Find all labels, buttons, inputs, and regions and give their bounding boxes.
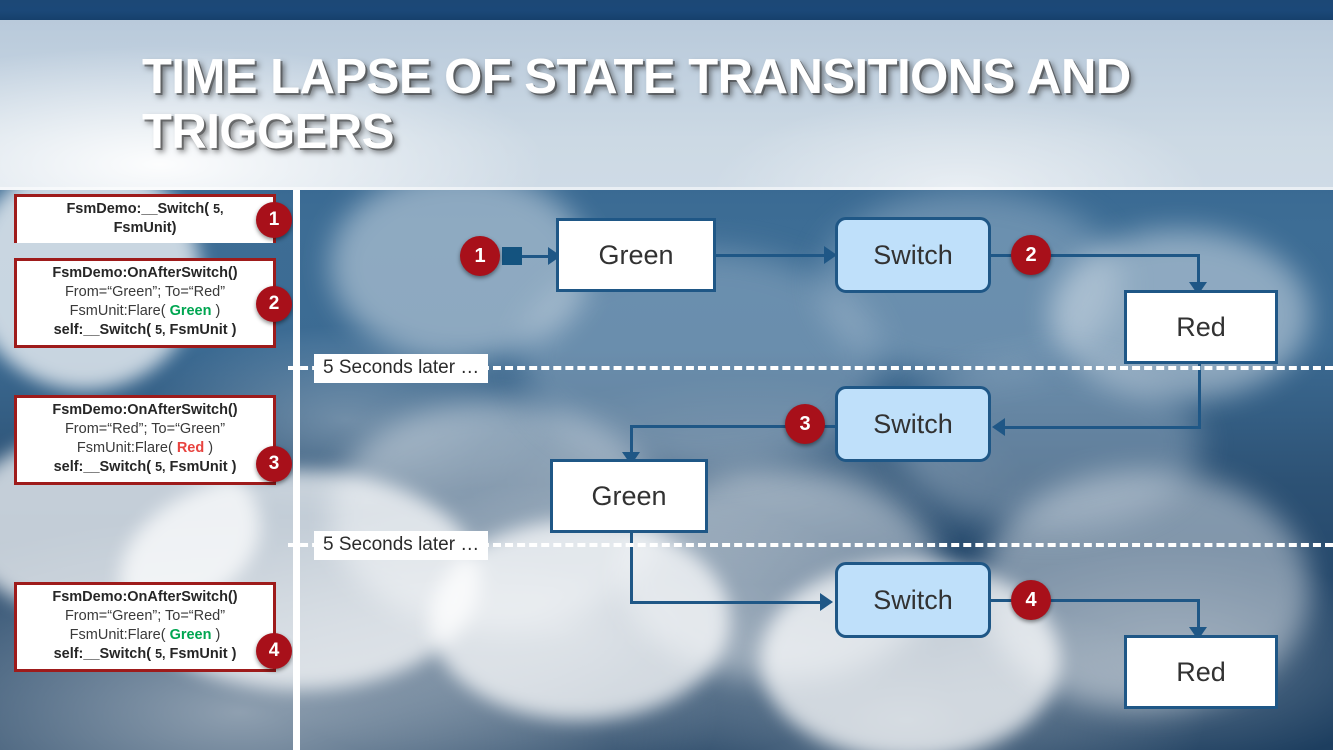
step-badge-2: 2 [1011, 235, 1051, 275]
code-text: FsmDemo:__Switch( [66, 201, 213, 217]
code-text: self:__Switch( [54, 646, 156, 662]
top-accent-bar [0, 0, 1333, 20]
code-text: From=“Green”; To=“Red” [65, 608, 225, 624]
code-line: FsmDemo:OnAfterSwitch() [23, 401, 267, 420]
code-token: 5, [213, 202, 223, 216]
code-text: ) [211, 627, 220, 643]
code-sidebar: FsmDemo:__Switch( 5,FsmUnit)FsmDemo:OnAf… [0, 190, 293, 750]
code-text: self:__Switch( [54, 322, 156, 338]
node-switch-1[interactable]: Switch [835, 217, 991, 293]
node-green-2[interactable]: Green [550, 459, 708, 533]
step-badge-3: 3 [785, 404, 825, 444]
node-switch-3[interactable]: Switch [835, 562, 991, 638]
code-text: FsmUnit ) [166, 646, 237, 662]
node-label: Switch [873, 409, 953, 440]
code-line: FsmUnit:Flare( Green ) [23, 302, 267, 321]
node-label: Red [1176, 312, 1226, 343]
code-line: FsmDemo:__Switch( 5, [23, 200, 267, 219]
connector-red1-down [1198, 364, 1201, 429]
code-badge-1: 1 [256, 202, 292, 238]
code-token: Green [170, 627, 212, 643]
code-text: FsmUnit ) [166, 459, 237, 475]
code-line: FsmDemo:OnAfterSwitch() [23, 264, 267, 283]
flow-diagram: Green Switch Red 5 Seconds later … Switc… [300, 190, 1333, 750]
code-line: FsmDemo:OnAfterSwitch() [23, 588, 267, 607]
code-line: From=“Red”; To=“Green” [23, 420, 267, 439]
code-segment: FsmDemo:OnAfterSwitch()From=“Red”; To=“G… [17, 398, 273, 482]
step-badge-4: 4 [1011, 580, 1051, 620]
page-title: Time lapse of state transitions and trig… [142, 50, 1202, 160]
code-token: Green [170, 303, 212, 319]
code-box-2: FsmDemo:OnAfterSwitch()From=“Green”; To=… [14, 258, 276, 348]
node-label: Green [591, 481, 666, 512]
code-text: ) [204, 440, 213, 456]
code-line: FsmUnit) [23, 219, 267, 238]
arrowhead-icon [992, 418, 1005, 436]
code-text: FsmDemo:OnAfterSwitch() [52, 402, 237, 418]
code-box-4: FsmDemo:OnAfterSwitch()From=“Green”; To=… [14, 582, 276, 672]
code-line: From=“Green”; To=“Red” [23, 283, 267, 302]
code-text: ) [211, 303, 220, 319]
code-badge-3: 3 [256, 446, 292, 482]
code-text: FsmUnit) [114, 220, 177, 236]
time-separator-label-1: 5 Seconds later … [314, 354, 488, 383]
connector-red1-to-switch2 [1000, 426, 1201, 429]
code-token: 5, [155, 460, 165, 474]
node-label: Switch [873, 585, 953, 616]
code-line: self:__Switch( 5, FsmUnit ) [23, 645, 267, 664]
connector-green2-to-switch3 [630, 601, 826, 604]
node-label: Green [598, 240, 673, 271]
time-separator-label-2: 5 Seconds later … [314, 531, 488, 560]
code-text: FsmDemo:OnAfterSwitch() [52, 589, 237, 605]
code-line: From=“Green”; To=“Red” [23, 607, 267, 626]
arrowhead-icon [820, 593, 833, 611]
code-token: 5, [155, 647, 165, 661]
node-switch-2[interactable]: Switch [835, 386, 991, 462]
node-red-2[interactable]: Red [1124, 635, 1278, 709]
code-segment: FsmDemo:OnAfterSwitch()From=“Green”; To=… [17, 585, 273, 669]
code-text: self:__Switch( [54, 459, 156, 475]
code-box-1: FsmDemo:__Switch( 5,FsmUnit) [14, 194, 276, 243]
node-red-1[interactable]: Red [1124, 290, 1278, 364]
code-segment: FsmDemo:OnAfterSwitch()From=“Green”; To=… [17, 261, 273, 345]
code-text: FsmUnit:Flare( [70, 627, 170, 643]
node-label: Red [1176, 657, 1226, 688]
code-text: From=“Green”; To=“Red” [65, 284, 225, 300]
code-segment: FsmDemo:__Switch( 5,FsmUnit) [17, 197, 273, 243]
code-text: FsmUnit:Flare( [77, 440, 177, 456]
node-green-1[interactable]: Green [556, 218, 716, 292]
slide-canvas: Time lapse of state transitions and trig… [0, 0, 1333, 750]
code-line: self:__Switch( 5, FsmUnit ) [23, 458, 267, 477]
start-marker-icon [502, 247, 522, 265]
code-line: FsmUnit:Flare( Green ) [23, 626, 267, 645]
panel-divider [293, 190, 300, 750]
code-line: FsmUnit:Flare( Red ) [23, 439, 267, 458]
code-text: FsmUnit:Flare( [70, 303, 170, 319]
code-box-3: FsmDemo:OnAfterSwitch()From=“Red”; To=“G… [14, 395, 276, 485]
connector-green1-to-switch1 [716, 254, 832, 257]
code-text: From=“Red”; To=“Green” [65, 421, 225, 437]
code-badge-4: 4 [256, 633, 292, 669]
code-token: 5, [155, 323, 165, 337]
code-line: self:__Switch( 5, FsmUnit ) [23, 321, 267, 340]
node-label: Switch [873, 240, 953, 271]
code-text: FsmUnit ) [166, 322, 237, 338]
step-badge-1: 1 [460, 236, 500, 276]
code-token: Red [177, 440, 204, 456]
code-text: FsmDemo:OnAfterSwitch() [52, 265, 237, 281]
code-badge-2: 2 [256, 286, 292, 322]
